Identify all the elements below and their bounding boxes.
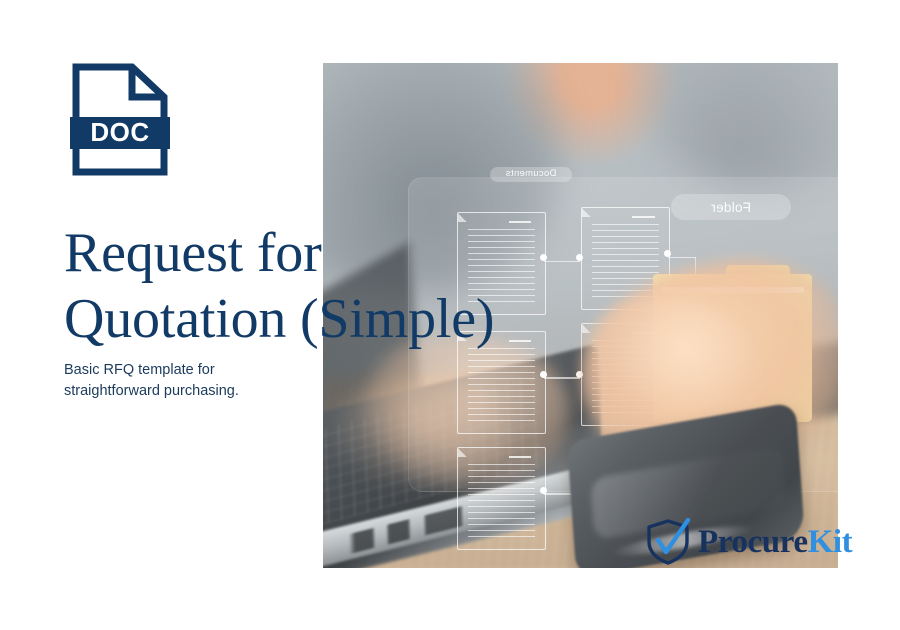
folder-pill: Folder: [671, 194, 791, 220]
page-subtitle: Basic RFQ template for straightforward p…: [64, 360, 294, 402]
documents-pill: Documents: [490, 167, 572, 182]
page-subtitle-line-1: Basic RFQ template for: [64, 360, 294, 381]
page-title-line-1: Request for: [64, 220, 594, 286]
document-card-lines: [468, 348, 535, 425]
doc-badge-label: DOC: [90, 117, 149, 147]
logo-text-accent: Kit: [808, 524, 853, 560]
document-card-heading: [632, 216, 655, 218]
template-cover-card: DOC Request for Quotation (Simple) Basic…: [0, 0, 900, 630]
flow-node-dot: [540, 487, 547, 494]
flow-connector: [668, 257, 696, 258]
procurekit-wordmark: ProcureKit: [698, 526, 852, 559]
shield-checkmark-icon: [645, 518, 691, 566]
page-title: Request for Quotation (Simple): [64, 220, 594, 352]
document-card: [457, 447, 547, 550]
page-subtitle-line-2: straightforward purchasing.: [64, 381, 294, 402]
document-card-heading: [509, 456, 532, 458]
flow-connector: [544, 377, 580, 378]
logo-text-primary: Procure: [698, 524, 808, 560]
page-title-line-2: Quotation (Simple): [64, 286, 594, 352]
document-file-icon: DOC: [70, 63, 170, 176]
procurekit-logo: ProcureKit: [645, 518, 852, 566]
flow-node-dot: [540, 371, 547, 378]
document-card-lines: [468, 464, 535, 541]
